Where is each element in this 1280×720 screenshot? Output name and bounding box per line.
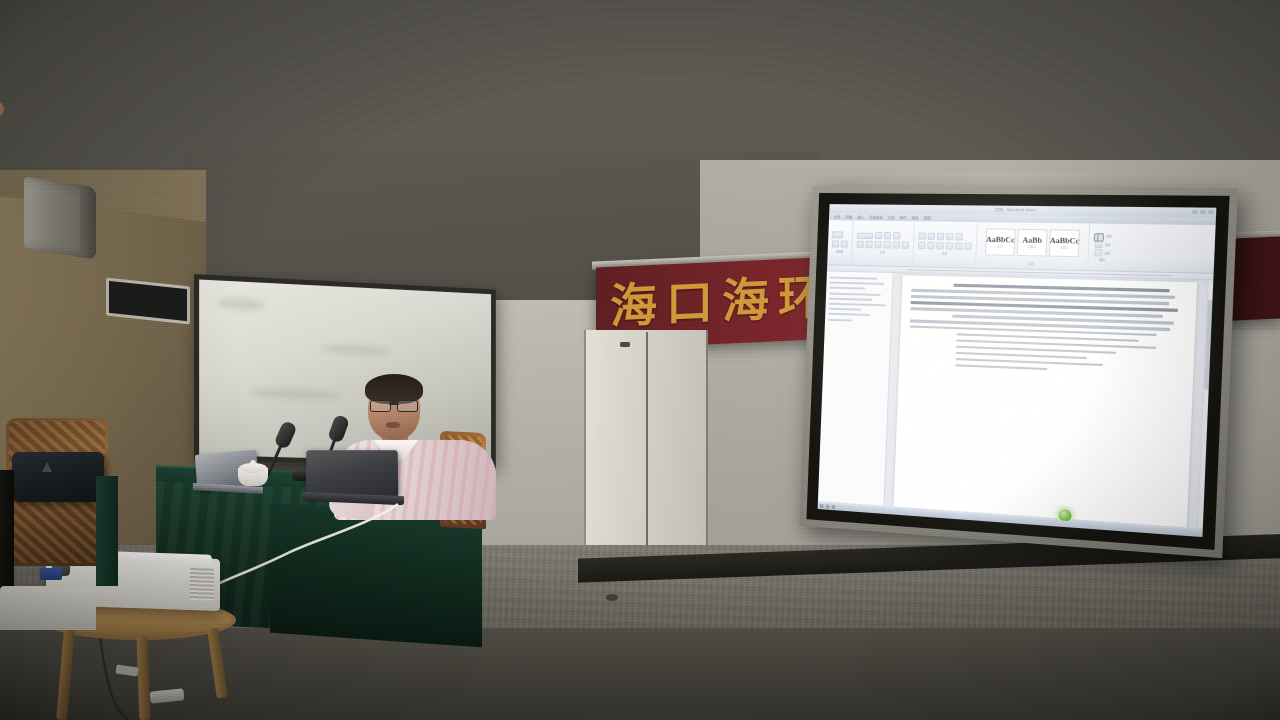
nav-entry[interactable] [829, 282, 884, 285]
laptop-lid [306, 450, 399, 496]
nav-entry[interactable] [828, 313, 870, 316]
ribbon-group-paragraph[interactable]: 段落 [913, 221, 978, 267]
select-label: 选择 [1104, 251, 1110, 255]
whiteboard-smudge [250, 387, 341, 400]
style-item-heading-1[interactable]: AaBb 标题 1 [1017, 229, 1048, 257]
font-color-icon[interactable] [902, 242, 909, 249]
presenter-laptop [306, 450, 398, 506]
green-table-edge [96, 476, 118, 586]
laptop-bag [12, 452, 104, 502]
style-item-normal[interactable]: AaBbCc 正文 [985, 228, 1016, 256]
tab-mailings[interactable]: 邮件 [900, 215, 907, 220]
find-label: 查找 [1106, 234, 1112, 238]
style-name: 正文 [997, 244, 1003, 248]
bold-icon[interactable] [857, 241, 864, 248]
select-icon[interactable] [1094, 249, 1102, 257]
word-body [818, 271, 1213, 528]
find-row[interactable]: 查找 [1094, 232, 1112, 240]
lidded-teacup [238, 460, 268, 486]
find-icon[interactable] [1094, 232, 1104, 240]
style-name: 标题 1 [1028, 245, 1036, 249]
tab-insert[interactable]: 插入 [857, 214, 864, 219]
style-preview-text: AaBbCc [986, 235, 1015, 243]
whiteboard-smudge [321, 344, 390, 356]
floor-object [606, 594, 618, 601]
style-preview-text: AaBb [1022, 236, 1042, 244]
font-name-dropdown[interactable] [857, 232, 873, 238]
align-left-icon[interactable] [918, 242, 925, 249]
ribbon-group-clipboard[interactable]: 剪贴板 [827, 220, 853, 265]
replace-icon[interactable] [1095, 241, 1103, 249]
tab-page-layout[interactable]: 页面布局 [869, 215, 883, 220]
decrease-indent-icon[interactable] [946, 233, 954, 240]
group-label-styles: 样式 [980, 260, 1083, 266]
text-highlight-icon[interactable] [893, 241, 900, 248]
cut-icon[interactable] [832, 240, 839, 247]
document-page[interactable] [893, 275, 1197, 527]
nav-entry[interactable] [828, 318, 852, 321]
navigation-pane[interactable] [818, 271, 894, 505]
bullets-icon[interactable] [918, 233, 925, 240]
document-line [955, 364, 1047, 371]
nav-entry[interactable] [829, 303, 886, 307]
maximize-icon[interactable] [1200, 210, 1206, 214]
screen-surface: 文档 - Microsoft Word 文件 开始 插入 页面布局 引 [818, 204, 1217, 537]
teacup-knob [250, 460, 256, 466]
whiteboard-smudge [218, 297, 265, 311]
increase-indent-icon[interactable] [955, 233, 963, 240]
word-application: 文档 - Microsoft Word 文件 开始 插入 页面布局 引 [818, 204, 1217, 537]
taskbar-start-icon[interactable] [820, 504, 824, 508]
style-item-heading-2[interactable]: AaBbCc 标题 2 [1049, 229, 1080, 257]
wall-speaker [24, 176, 96, 259]
underline-icon[interactable] [875, 241, 882, 248]
window-controls[interactable] [1192, 210, 1214, 215]
nav-entry[interactable] [828, 308, 861, 311]
document-area[interactable] [884, 273, 1207, 528]
floor-foreground [0, 628, 1280, 720]
tab-review[interactable]: 审阅 [911, 215, 918, 220]
projection-screen: 文档 - Microsoft Word 文件 开始 插入 页面布局 引 [799, 186, 1238, 558]
group-label-editing: 编辑 [1099, 258, 1105, 262]
ribbon-group-editing[interactable]: 查找 替换 选择 编辑 [1088, 223, 1117, 270]
document-title: 文档 - Microsoft Word [995, 208, 1036, 214]
nav-entry[interactable] [830, 277, 878, 280]
wall-edge-post [0, 470, 14, 600]
grow-font-icon[interactable] [884, 232, 891, 239]
select-row[interactable]: 选择 [1094, 249, 1110, 257]
borders-icon[interactable] [964, 243, 972, 250]
door-seam [646, 332, 648, 558]
copy-icon[interactable] [841, 240, 848, 247]
multilevel-list-icon[interactable] [937, 233, 944, 240]
side-table [0, 586, 96, 630]
tab-view[interactable]: 视图 [923, 215, 930, 220]
style-preview-text: AaBbCc [1050, 236, 1080, 244]
close-icon[interactable] [1208, 210, 1214, 214]
projector-connector [40, 568, 62, 580]
ribbon-group-styles[interactable]: AaBbCc 正文 AaBb 标题 1 AaBbCc 标题 2 [976, 222, 1090, 270]
paste-icon[interactable] [832, 231, 843, 238]
align-right-icon[interactable] [936, 242, 943, 249]
nav-entry[interactable] [829, 292, 880, 295]
group-label-font: 字体 [856, 250, 908, 255]
font-size-dropdown[interactable] [875, 232, 882, 239]
replace-label: 替换 [1105, 242, 1111, 246]
shrink-font-icon[interactable] [893, 232, 900, 239]
group-label-paragraph: 段落 [918, 251, 972, 256]
numbering-icon[interactable] [928, 233, 935, 240]
nav-entry[interactable] [829, 297, 873, 300]
glasses-icon [370, 400, 418, 410]
tab-references[interactable]: 引用 [888, 215, 895, 220]
style-name: 标题 2 [1060, 246, 1068, 250]
tab-file[interactable]: 文件 [834, 214, 841, 219]
minimize-icon[interactable] [1192, 210, 1198, 214]
group-label-clipboard: 剪贴板 [832, 249, 848, 253]
italic-icon[interactable] [866, 241, 873, 248]
line-spacing-icon[interactable] [955, 242, 963, 249]
justify-icon[interactable] [946, 242, 954, 249]
taskbar-item-icon[interactable] [825, 505, 829, 509]
style-gallery[interactable]: AaBbCc 正文 AaBb 标题 1 AaBbCc 标题 2 [981, 225, 1085, 260]
strikethrough-icon[interactable] [884, 241, 891, 248]
tab-home[interactable]: 开始 [846, 214, 853, 219]
nav-entry[interactable] [829, 287, 865, 290]
taskbar-item-icon[interactable] [831, 505, 835, 509]
replace-row[interactable]: 替换 [1095, 241, 1111, 249]
presenter-mouth [386, 422, 400, 428]
align-center-icon[interactable] [927, 242, 934, 249]
door-handle-icon[interactable] [620, 342, 630, 347]
conference-room-photo: 海口海环院环境 文档 - Microsoft Word [0, 0, 1280, 720]
screen-frame: 文档 - Microsoft Word 文件 开始 插入 页面布局 引 [799, 186, 1238, 558]
ribbon-group-font[interactable]: 字体 [852, 220, 915, 266]
